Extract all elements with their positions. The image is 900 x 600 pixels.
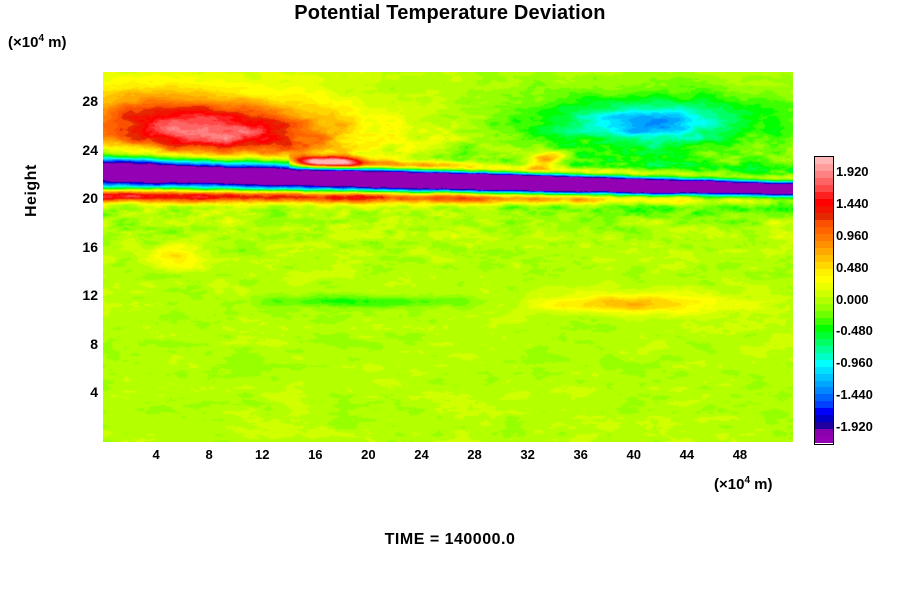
colorbar-band [815, 429, 833, 436]
y-tick-label: 12 [58, 287, 98, 303]
colorbar-band [815, 255, 833, 262]
time-annotation: TIME = 140000.0 [0, 531, 900, 549]
colorbar-band [815, 387, 833, 394]
colorbar-band [815, 269, 833, 276]
colorbar-band [815, 304, 833, 311]
x-tick-label: 12 [242, 447, 282, 462]
x-axis-ticks: 4812162024283236404448 [103, 447, 793, 469]
x-tick-label: 48 [720, 447, 760, 462]
colorbar-tick-label: 1.440 [836, 196, 869, 211]
colorbar-band [815, 290, 833, 297]
colorbar-band [815, 394, 833, 401]
colorbar-band [815, 157, 833, 164]
colorbar-band [815, 185, 833, 192]
colorbar-band [815, 241, 833, 248]
colorbar-band [815, 164, 833, 171]
colorbar-band [815, 401, 833, 408]
colorbar-band [815, 360, 833, 367]
colorbar-tick-label: 0.960 [836, 228, 869, 243]
y-tick-label: 8 [58, 336, 98, 352]
colorbar-band [815, 262, 833, 269]
colorbar-tick-label: -0.960 [836, 355, 873, 370]
x-tick-label: 4 [136, 447, 176, 462]
colorbar-tick-label: -1.440 [836, 387, 873, 402]
x-tick-label: 44 [667, 447, 707, 462]
colorbar-band [815, 283, 833, 290]
x-unit-prefix: (×10 [714, 476, 744, 493]
colorbar-band [815, 178, 833, 185]
colorbar-band [815, 353, 833, 360]
colorbar-band [815, 220, 833, 227]
colorbar-band [815, 276, 833, 283]
colorbar-band [815, 422, 833, 429]
colorbar-band [815, 408, 833, 415]
x-tick-label: 8 [189, 447, 229, 462]
colorbar-band [815, 199, 833, 206]
x-tick-label: 24 [401, 447, 441, 462]
y-axis-title: Height [23, 197, 41, 217]
x-tick-label: 36 [561, 447, 601, 462]
x-tick-label: 20 [348, 447, 388, 462]
y-axis-ticks: 481216202428 [50, 72, 98, 442]
y-tick-label: 4 [58, 384, 98, 400]
y-tick-label: 20 [58, 190, 98, 206]
colorbar-band [815, 374, 833, 381]
y-unit-suffix: m) [44, 34, 67, 51]
x-tick-label: 32 [508, 447, 548, 462]
x-axis-unit-label: (×104 m) [714, 475, 773, 493]
colorbar-band [815, 248, 833, 255]
y-unit-prefix: (×10 [8, 34, 38, 51]
colorbar-band [815, 332, 833, 339]
colorbar-band [815, 206, 833, 213]
colorbar-tick-label: 0.480 [836, 260, 869, 275]
y-tick-label: 24 [58, 142, 98, 158]
colorbar-band [815, 339, 833, 346]
colorbar-tick-label: 1.920 [836, 164, 869, 179]
colorbar-band [815, 234, 833, 241]
colorbar-band [815, 367, 833, 374]
page-title: Potential Temperature Deviation [0, 2, 900, 25]
colorbar-band [815, 436, 833, 443]
heatmap-plot-area [103, 72, 793, 442]
x-unit-suffix: m) [750, 476, 773, 493]
colorbar-tick-label: 0.000 [836, 292, 869, 307]
colorbar-band [815, 227, 833, 234]
colorbar-band [815, 325, 833, 332]
colorbar-band [815, 346, 833, 353]
colorbar-band [815, 415, 833, 422]
colorbar-band [815, 297, 833, 304]
x-tick-label: 40 [614, 447, 654, 462]
colorbar-band [815, 381, 833, 388]
y-tick-label: 16 [58, 239, 98, 255]
y-tick-label: 28 [58, 93, 98, 109]
colorbar-band [815, 192, 833, 199]
colorbar [814, 156, 834, 445]
colorbar-tick-labels: 1.9201.4400.9600.4800.000-0.480-0.960-1.… [836, 148, 900, 448]
colorbar-tick-label: -1.920 [836, 419, 873, 434]
colorbar-band [815, 171, 833, 178]
x-tick-label: 28 [455, 447, 495, 462]
colorbar-band [815, 318, 833, 325]
colorbar-band [815, 213, 833, 220]
temperature-deviation-field [103, 72, 793, 442]
colorbar-tick-label: -0.480 [836, 323, 873, 338]
x-tick-label: 16 [295, 447, 335, 462]
colorbar-band [815, 311, 833, 318]
y-axis-unit-label: (×104 m) [8, 33, 67, 51]
